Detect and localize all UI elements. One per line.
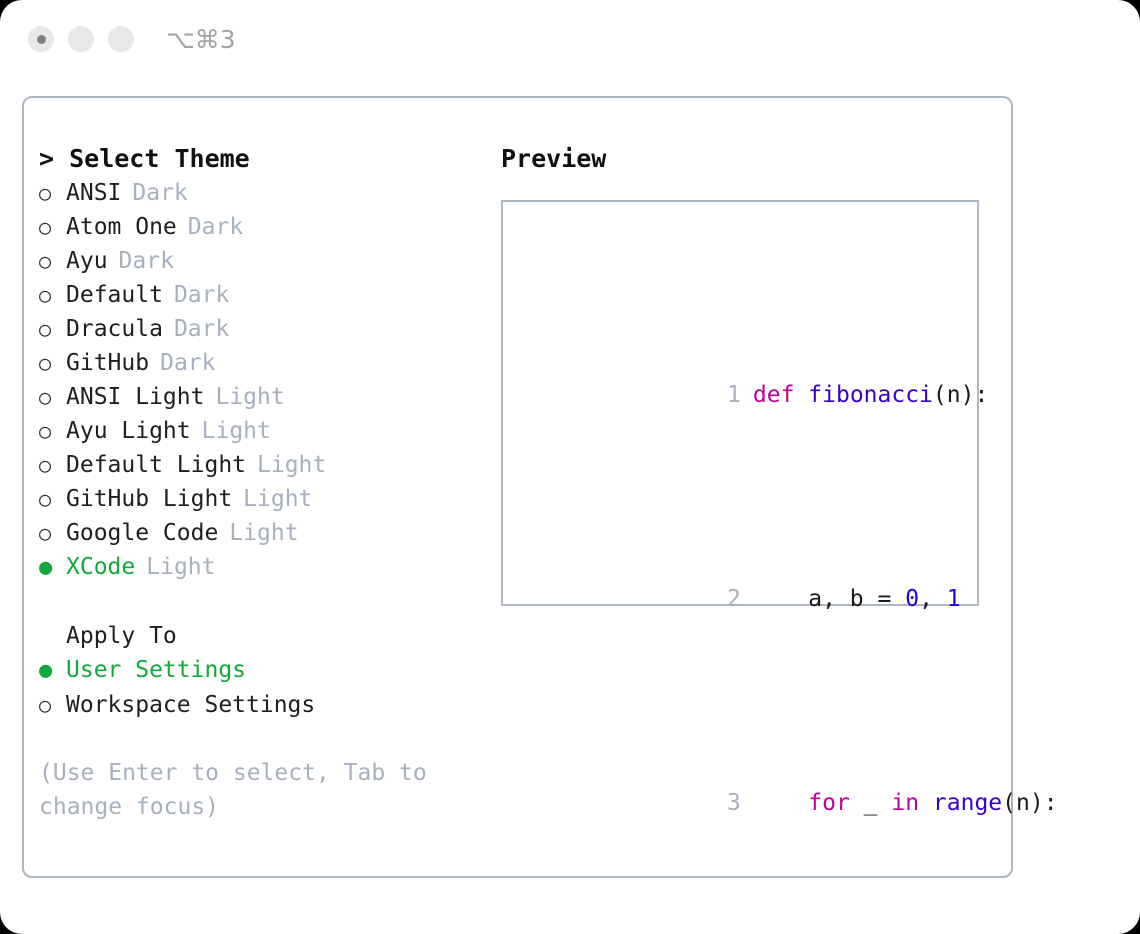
minimize-button[interactable] [68,26,94,52]
apply-to-list: ● User Settings ○ Workspace Settings [39,653,509,722]
radio-icon[interactable]: ○ [39,688,66,722]
select-theme-heading: > Select Theme [39,142,509,176]
preview-box: 1def fibonacci(n): 2 a, b = 0, 1 3 for _… [501,200,979,606]
theme-selector-panel: > Select Theme ○ ANSI Dark ○ Atom One Da… [22,96,1013,878]
radio-icon[interactable]: ○ [39,210,66,244]
theme-name: Dracula [66,312,163,346]
code-token: 1 [947,586,961,612]
theme-name: Ayu Light [66,414,191,448]
traffic-light-group [28,26,134,52]
title-bar: ⌥⌘3 [0,0,1140,78]
maximize-button[interactable] [108,26,134,52]
theme-name: ANSI Light [66,380,204,414]
theme-list-item[interactable]: ○ Default Light Light [39,448,509,482]
theme-variant: Light [146,550,215,584]
apply-to-option-user[interactable]: ● User Settings [39,653,509,688]
theme-name: Ayu [66,244,108,278]
code-token: in [891,790,919,816]
code-token: (n): [933,382,988,408]
theme-list-column: > Select Theme ○ ANSI Dark ○ Atom One Da… [39,142,509,824]
radio-icon[interactable]: ○ [39,516,66,550]
preview-heading: Preview [501,142,1001,176]
code-token [794,382,808,408]
active-indicator-dot [37,35,46,44]
code-token [753,790,808,816]
line-number: 3 [715,786,741,820]
theme-list: ○ ANSI Dark ○ Atom One Dark ○ Ayu Dark [39,176,509,585]
radio-icon-selected[interactable]: ● [39,551,66,585]
radio-icon[interactable]: ○ [39,346,66,380]
theme-list-item[interactable]: ○ Ayu Light Light [39,414,509,448]
code-token: 0 [905,586,919,612]
theme-variant: Light [257,448,326,482]
theme-list-item[interactable]: ○ GitHub Dark [39,346,509,380]
theme-variant: Light [243,482,312,516]
code-token: for [808,790,850,816]
apply-to-heading: Apply To [39,619,509,653]
theme-name: Google Code [66,516,218,550]
theme-variant: Dark [119,244,174,278]
radio-icon[interactable]: ○ [39,176,66,210]
theme-name: Default Light [66,448,246,482]
code-token: def [753,382,795,408]
radio-icon[interactable]: ○ [39,278,66,312]
section-spacer [39,585,509,619]
line-number: 2 [715,582,741,616]
theme-name: Default [66,278,163,312]
code-token: fibonacci [808,382,933,408]
panel-columns: > Select Theme ○ ANSI Dark ○ Atom One Da… [24,98,1011,876]
theme-name: GitHub [66,346,149,380]
code-sample: 1def fibonacci(n): 2 a, b = 0, 1 3 for _… [521,242,1113,934]
line-number: 1 [715,378,741,412]
apply-to-label: User Settings [66,653,246,687]
theme-list-item[interactable]: ○ Atom One Dark [39,210,509,244]
theme-name: Atom One [66,210,177,244]
keyboard-shortcut-label: ⌥⌘3 [166,25,236,54]
code-token [919,790,933,816]
radio-icon[interactable]: ○ [39,244,66,278]
theme-name: GitHub Light [66,482,232,516]
code-line: 3 for _ in range(n): [521,752,1113,854]
theme-list-item-selected[interactable]: ● XCode Light [39,550,509,585]
theme-variant: Light [215,380,284,414]
theme-variant: Dark [132,176,187,210]
theme-variant: Dark [160,346,215,380]
code-token: , [919,586,947,612]
theme-variant: Dark [188,210,243,244]
theme-variant: Light [202,414,271,448]
theme-list-item[interactable]: ○ ANSI Light Light [39,380,509,414]
apply-to-option-workspace[interactable]: ○ Workspace Settings [39,688,509,722]
apply-to-label: Workspace Settings [66,688,315,722]
theme-variant: Dark [174,312,229,346]
radio-icon-selected[interactable]: ● [39,654,66,688]
radio-icon[interactable]: ○ [39,448,66,482]
theme-variant: Light [229,516,298,550]
theme-list-item[interactable]: ○ Dracula Dark [39,312,509,346]
code-token: a, b = [753,586,905,612]
radio-icon[interactable]: ○ [39,482,66,516]
theme-variant: Dark [174,278,229,312]
preview-column: Preview 1def fibonacci(n): 2 a, b = 0, 1… [501,142,1001,606]
theme-name: ANSI [66,176,121,210]
close-button[interactable] [28,26,54,52]
radio-icon[interactable]: ○ [39,312,66,346]
code-token: (n): [1002,790,1057,816]
theme-list-item[interactable]: ○ GitHub Light Light [39,482,509,516]
keyboard-hint-text: (Use Enter to select, Tab to change focu… [39,756,444,824]
theme-list-item[interactable]: ○ ANSI Dark [39,176,509,210]
code-line: 1def fibonacci(n): [521,344,1113,446]
theme-list-item[interactable]: ○ Default Dark [39,278,509,312]
theme-list-item[interactable]: ○ Ayu Dark [39,244,509,278]
theme-list-item[interactable]: ○ Google Code Light [39,516,509,550]
radio-icon[interactable]: ○ [39,414,66,448]
code-token: _ [850,790,892,816]
code-line: 2 a, b = 0, 1 [521,548,1113,650]
theme-name: XCode [66,550,135,584]
app-window: ⌥⌘3 > Select Theme ○ ANSI Dark ○ Atom On… [0,0,1140,934]
radio-icon[interactable]: ○ [39,380,66,414]
code-token: range [933,790,1002,816]
